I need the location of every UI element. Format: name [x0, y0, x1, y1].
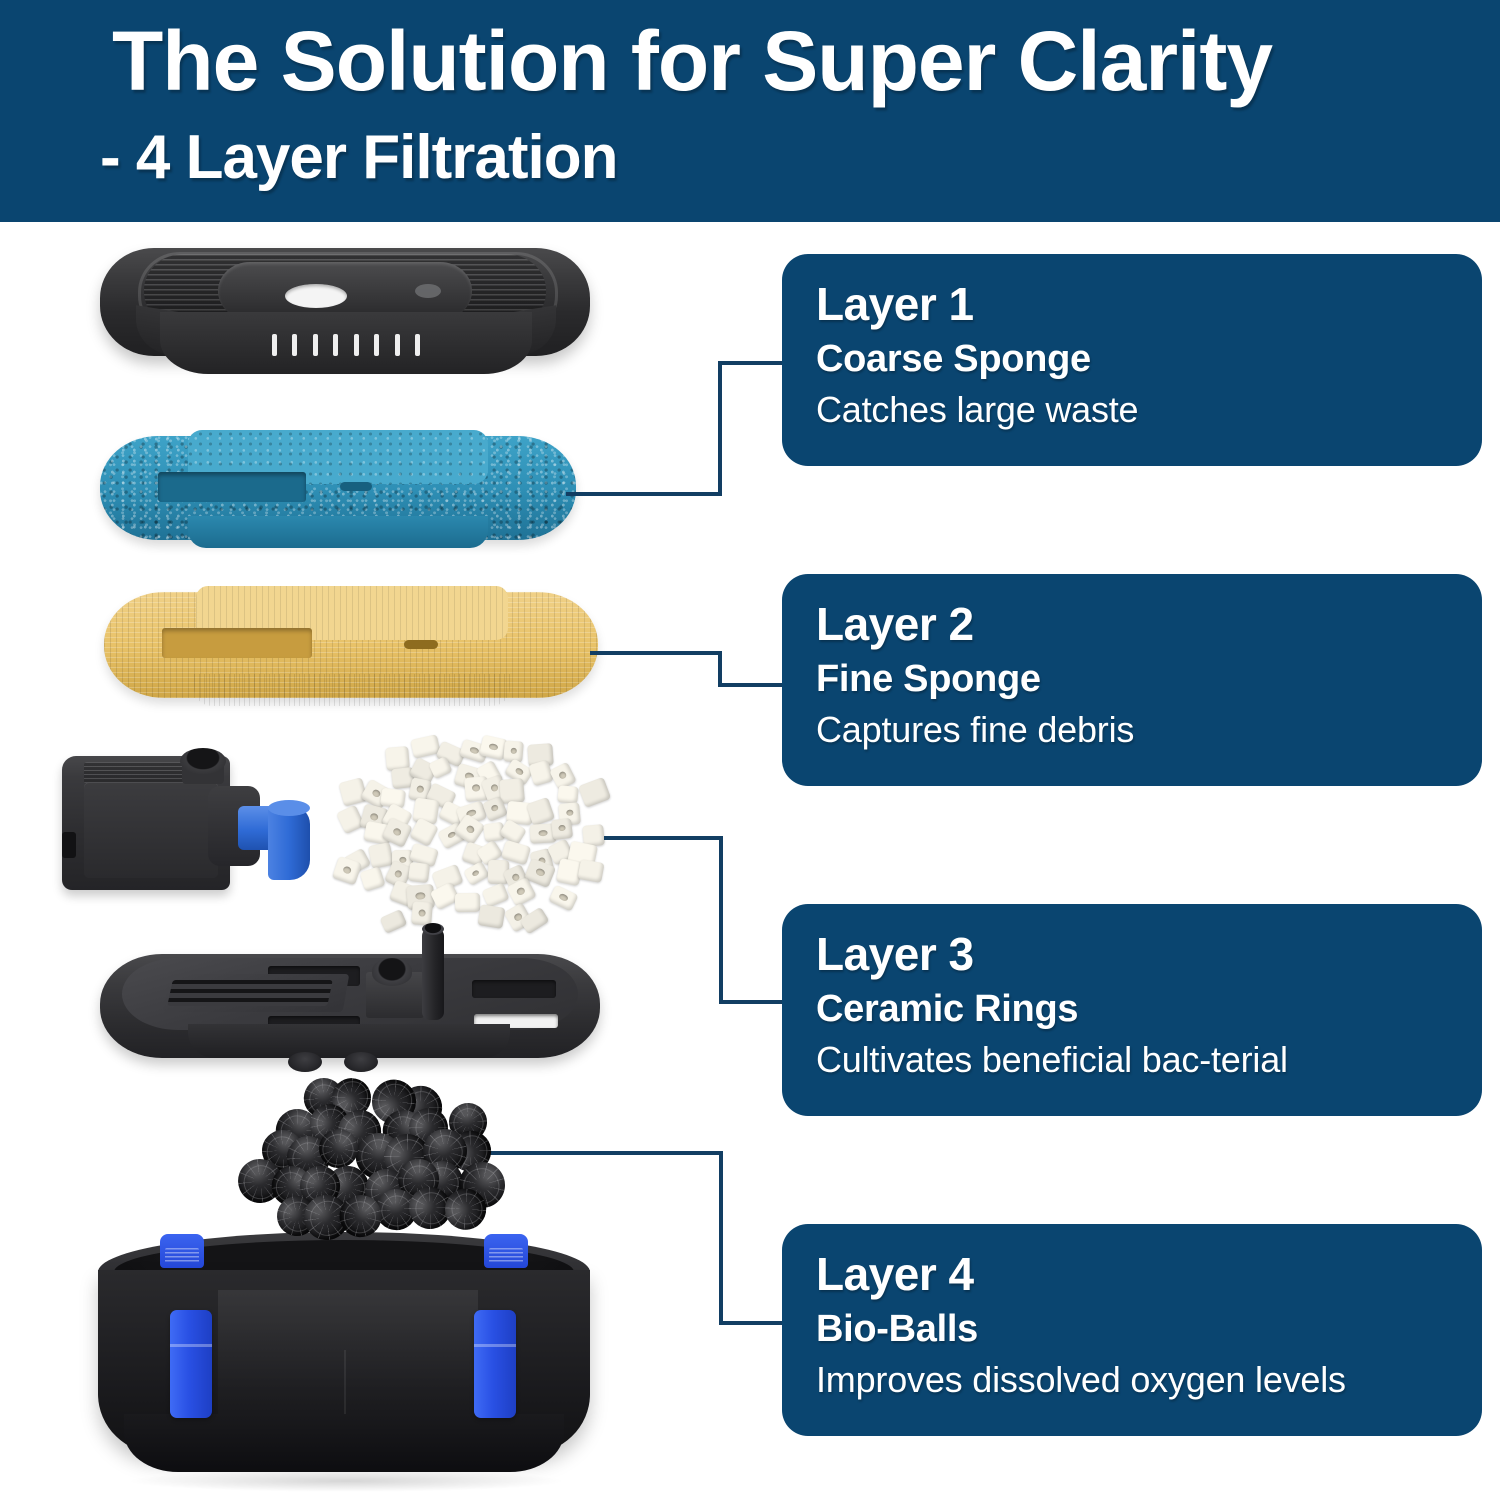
callout-layer-4[interactable]: Layer 4 Bio-Balls Improves dissolved oxy… — [782, 1224, 1482, 1436]
page-title: The Solution for Super Clarity — [112, 18, 1272, 104]
ceramic-ring — [557, 785, 578, 804]
callout-3-number: Layer 3 — [816, 926, 1482, 982]
connector-3-horizontal-upper — [604, 836, 723, 840]
connector-4-horizontal-lower — [719, 1321, 788, 1325]
callout-4-number: Layer 4 — [816, 1246, 1482, 1302]
pump-blue-elbow-vertical — [268, 806, 310, 880]
ceramic-ring — [578, 859, 605, 883]
header-banner: The Solution for Super Clarity - 4 Layer… — [0, 0, 1500, 222]
ceramic-ring — [551, 818, 573, 840]
ceramic-ring — [368, 842, 394, 869]
coarse-sponge-front-edge — [188, 516, 488, 548]
ceramic-ring — [455, 892, 480, 911]
callout-1-number: Layer 1 — [816, 276, 1482, 332]
housing-base — [124, 1414, 564, 1472]
filter-lid-illustration — [100, 248, 590, 380]
housing-drop-shadow — [126, 1470, 566, 1492]
ceramic-ring — [481, 882, 509, 907]
plate-foot-left — [288, 1052, 322, 1072]
callout-layer-3[interactable]: Layer 3 Ceramic Rings Cultivates benefic… — [782, 904, 1482, 1116]
coarse-sponge-notch — [158, 472, 306, 502]
connector-2-horizontal-upper — [590, 651, 722, 655]
fine-sponge-slot — [404, 640, 438, 649]
infographic-canvas: The Solution for Super Clarity - 4 Layer… — [0, 0, 1500, 1500]
ceramic-ring — [336, 804, 365, 834]
connector-3-horizontal-lower — [719, 1000, 788, 1004]
housing-clip-front-right[interactable] — [474, 1310, 516, 1418]
filter-housing-illustration — [98, 1232, 590, 1484]
connector-1-horizontal-lower — [566, 492, 722, 496]
callout-1-description: Catches large waste — [816, 386, 1482, 434]
connector-4-vertical — [719, 1151, 723, 1325]
connector-2-vertical — [718, 651, 722, 687]
plate-rail-ribs — [167, 980, 333, 1006]
callout-2-title: Fine Sponge — [816, 654, 1482, 704]
lid-indicator-dot — [415, 284, 441, 298]
lid-center-hole — [285, 284, 347, 308]
ceramic-ring — [360, 866, 386, 891]
ceramic-ring-pile-illustration — [340, 742, 600, 928]
connector-4-horizontal-upper — [453, 1151, 723, 1155]
callout-layer-2[interactable]: Layer 2 Fine Sponge Captures fine debris — [782, 574, 1482, 786]
fine-sponge-front-edge — [194, 674, 510, 706]
connector-1-vertical — [718, 361, 722, 496]
callout-3-title: Ceramic Rings — [816, 984, 1482, 1034]
pump-front-panel — [84, 782, 218, 878]
plate-foot-right — [344, 1052, 378, 1072]
ceramic-ring — [549, 885, 579, 912]
ceramic-ring — [477, 904, 505, 928]
housing-clip-front-left[interactable] — [170, 1310, 212, 1418]
ceramic-ring — [578, 777, 611, 807]
pump-top-port — [180, 748, 226, 774]
callout-1-title: Coarse Sponge — [816, 334, 1482, 384]
connector-3-vertical — [719, 836, 723, 1004]
plate-short-cylinder — [372, 958, 412, 986]
pump-blue-elbow-cap — [268, 800, 310, 816]
coarse-sponge-illustration — [100, 430, 576, 554]
bio-ball-pile-illustration — [230, 1078, 480, 1244]
ceramic-ring — [408, 862, 430, 884]
plate-cutout-top-right — [472, 980, 556, 998]
ceramic-ring — [499, 778, 525, 804]
connector-2-horizontal-lower — [718, 683, 788, 687]
callout-4-title: Bio-Balls — [816, 1304, 1482, 1354]
page-subtitle: - 4 Layer Filtration — [100, 126, 617, 190]
connector-1-horizontal-upper — [718, 361, 788, 365]
lid-vent-slots — [272, 334, 420, 356]
callout-2-description: Captures fine debris — [816, 706, 1482, 754]
housing-clip-back-right[interactable] — [484, 1234, 528, 1268]
housing-clip-back-left[interactable] — [160, 1234, 204, 1268]
plate-front-edge — [188, 1024, 510, 1058]
callout-2-number: Layer 2 — [816, 596, 1482, 652]
callout-layer-1[interactable]: Layer 1 Coarse Sponge Catches large wast… — [782, 254, 1482, 466]
fine-sponge-notch — [162, 628, 312, 658]
water-pump-illustration — [62, 748, 312, 898]
pump-side-slot — [62, 832, 76, 858]
plate-riser-tube-opening — [422, 923, 444, 935]
callout-4-description: Improves dissolved oxygen levels — [816, 1356, 1482, 1404]
callout-3-description: Cultivates beneficial bac-terial — [816, 1036, 1482, 1084]
coarse-sponge-slot — [340, 482, 372, 491]
plate-riser-tube — [422, 928, 444, 1020]
divider-plate-illustration — [100, 928, 600, 1074]
fine-sponge-illustration — [104, 586, 598, 716]
